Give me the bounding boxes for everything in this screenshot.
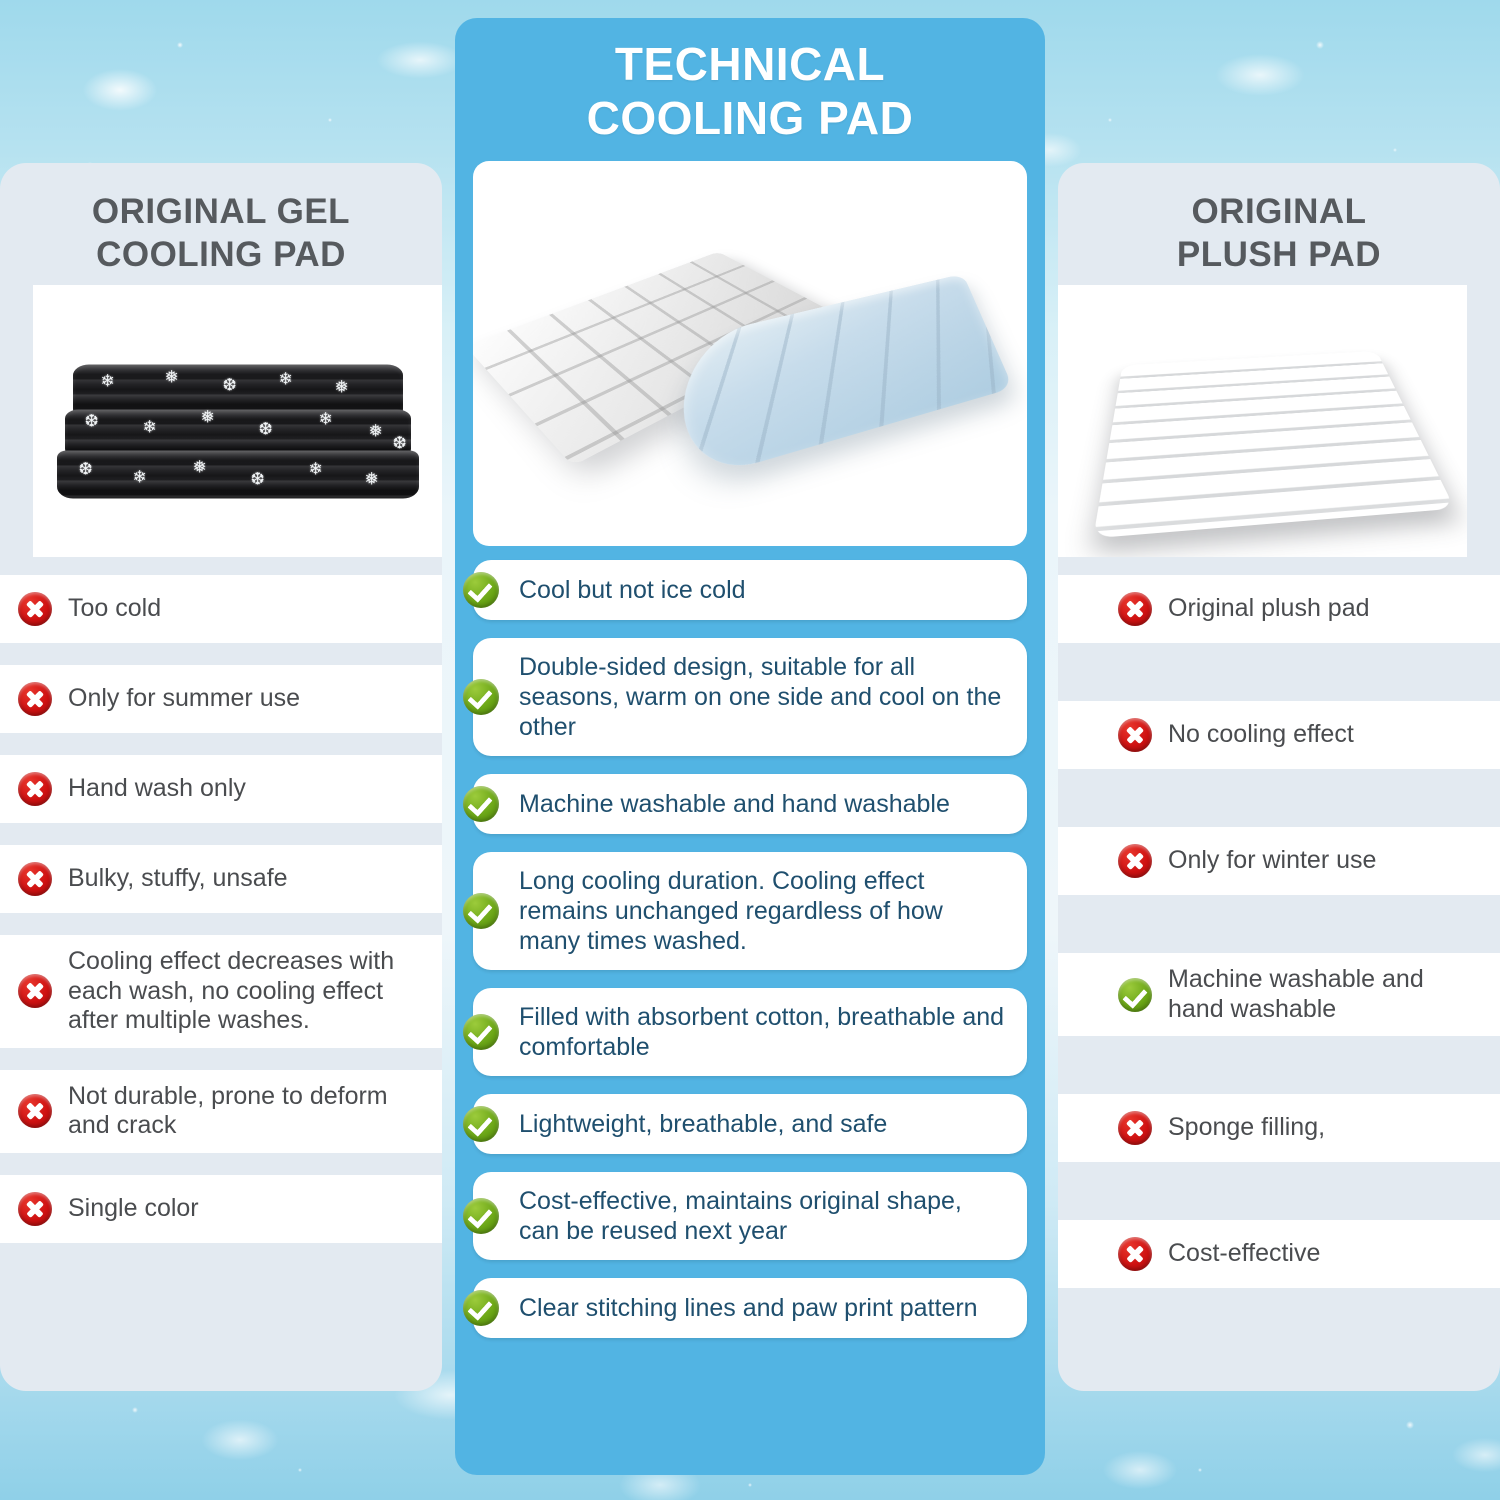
snowflake-icon: ❄ xyxy=(133,468,147,485)
left-panel-title-line2: COOLING PAD xyxy=(0,233,442,276)
check-icon xyxy=(463,786,499,822)
cross-icon xyxy=(18,682,52,716)
right-panel-title: ORIGINAL PLUSH PAD xyxy=(1058,163,1500,277)
snowflake-icon: ❄ xyxy=(309,460,323,477)
cross-icon xyxy=(1118,844,1152,878)
list-item-label: Not durable, prone to deform and crack xyxy=(68,1082,428,1141)
list-item: Original plush pad xyxy=(1058,575,1500,643)
list-item: Only for summer use xyxy=(0,665,442,733)
list-gap xyxy=(0,1153,442,1175)
list-gap xyxy=(0,643,442,665)
list-item-label: Filled with absorbent cotton, breathable… xyxy=(519,1002,1009,1062)
cross-icon xyxy=(18,1094,52,1128)
list-item: Cooling effect decreases with each wash,… xyxy=(0,935,442,1048)
check-icon xyxy=(463,679,499,715)
cross-icon xyxy=(1118,718,1152,752)
list-item: Double-sided design, suitable for all se… xyxy=(473,638,1027,756)
list-item: Not durable, prone to deform and crack xyxy=(0,1070,442,1153)
list-item-label: Lightweight, breathable, and safe xyxy=(519,1109,887,1139)
cross-icon xyxy=(1118,592,1152,626)
cross-icon xyxy=(18,974,52,1008)
snowflake-icon: ❅ xyxy=(365,470,379,487)
snowflake-icon: ❄ xyxy=(279,370,293,387)
list-item-label: Machine washable and hand washable xyxy=(1168,965,1486,1024)
cross-icon xyxy=(18,592,52,626)
center-product-photo xyxy=(473,161,1027,546)
snowflake-icon: ❆ xyxy=(223,376,237,393)
list-item: Sponge filling, xyxy=(1058,1094,1500,1162)
right-panel-title-line1: ORIGINAL xyxy=(1058,190,1500,233)
snowflake-icon: ❅ xyxy=(193,458,207,475)
center-feature-list: Cool but not ice coldDouble-sided design… xyxy=(473,560,1027,1338)
cross-icon xyxy=(1118,1237,1152,1271)
list-item-label: Sponge filling, xyxy=(1168,1113,1325,1143)
snowflake-icon: ❅ xyxy=(335,378,349,395)
list-item-label: Double-sided design, suitable for all se… xyxy=(519,652,1009,742)
list-gap xyxy=(1058,769,1500,827)
list-item-label: Cooling effect decreases with each wash,… xyxy=(68,947,428,1036)
list-item-label: Cost-effective, maintains original shape… xyxy=(519,1186,1009,1246)
list-item-label: Only for winter use xyxy=(1168,846,1376,876)
list-item-label: Only for summer use xyxy=(68,684,300,714)
list-item-label: Clear stitching lines and paw print patt… xyxy=(519,1293,978,1323)
center-panel-title-line2: COOLING PAD xyxy=(473,92,1027,146)
left-panel-title-line1: ORIGINAL GEL xyxy=(0,190,442,233)
list-item: Bulky, stuffy, unsafe xyxy=(0,845,442,913)
list-gap xyxy=(1058,895,1500,953)
list-item-label: Bulky, stuffy, unsafe xyxy=(68,864,288,894)
list-item: Hand wash only xyxy=(0,755,442,823)
right-product-photo xyxy=(1058,285,1467,557)
left-product-photo: ❄ ❅ ❆ ❄ ❅ ❆ ❄ ❅ ❆ ❄ ❅ ❆ ❄ ❅ ❆ ❄ ❅ ❆ xyxy=(33,285,442,557)
snowflake-icon: ❅ xyxy=(165,368,179,385)
check-icon xyxy=(463,893,499,929)
list-item-label: Long cooling duration. Cooling effect re… xyxy=(519,866,1009,956)
snowflake-icon: ❆ xyxy=(251,470,265,487)
list-item: Cost-effective, maintains original shape… xyxy=(473,1172,1027,1260)
list-gap xyxy=(0,913,442,935)
center-feature-panel: TECHNICAL COOLING PAD Cool but not ice c… xyxy=(455,18,1045,1475)
center-panel-title-line1: TECHNICAL xyxy=(473,38,1027,92)
list-item: Filled with absorbent cotton, breathable… xyxy=(473,988,1027,1076)
check-icon xyxy=(463,1198,499,1234)
list-gap xyxy=(0,823,442,845)
list-gap xyxy=(1058,643,1500,701)
list-item: Only for winter use xyxy=(1058,827,1500,895)
right-comparison-panel: ORIGINAL PLUSH PAD Original plush padNo … xyxy=(1058,163,1500,1391)
list-item: Cool but not ice cold xyxy=(473,560,1027,620)
snowflake-icon: ❄ xyxy=(101,372,115,389)
check-icon xyxy=(463,572,499,608)
snowflake-icon: ❅ xyxy=(369,422,383,439)
list-item: Too cold xyxy=(0,575,442,643)
list-gap xyxy=(1058,1162,1500,1220)
right-feature-list: Original plush padNo cooling effectOnly … xyxy=(1058,575,1500,1288)
list-item-label: Too cold xyxy=(68,594,161,624)
snowflake-icon: ❅ xyxy=(201,408,215,425)
right-panel-title-line2: PLUSH PAD xyxy=(1058,233,1500,276)
cross-icon xyxy=(18,862,52,896)
left-feature-list: Too coldOnly for summer useHand wash onl… xyxy=(0,575,442,1243)
center-panel-title: TECHNICAL COOLING PAD xyxy=(473,18,1027,146)
list-item: No cooling effect xyxy=(1058,701,1500,769)
list-item-label: Hand wash only xyxy=(68,774,246,804)
list-item: Lightweight, breathable, and safe xyxy=(473,1094,1027,1154)
check-icon xyxy=(463,1106,499,1142)
list-item: Machine washable and hand washable xyxy=(473,774,1027,834)
gel-pad-illustration: ❄ ❅ ❆ ❄ ❅ ❆ ❄ ❅ ❆ ❄ ❅ ❆ ❄ ❅ ❆ ❄ ❅ ❆ xyxy=(73,364,403,499)
snowflake-icon: ❆ xyxy=(259,420,273,437)
snowflake-icon: ❄ xyxy=(319,410,333,427)
cooling-pad-illustration xyxy=(490,203,1010,503)
list-item-label: Cool but not ice cold xyxy=(519,575,746,605)
cross-icon xyxy=(1118,1111,1152,1145)
list-item: Clear stitching lines and paw print patt… xyxy=(473,1278,1027,1338)
list-item: Single color xyxy=(0,1175,442,1243)
list-item-label: Single color xyxy=(68,1194,199,1224)
list-item-label: No cooling effect xyxy=(1168,720,1354,750)
check-icon xyxy=(463,1290,499,1326)
infographic-page: ORIGINAL GEL COOLING PAD ❄ ❅ ❆ ❄ ❅ ❆ ❄ ❅… xyxy=(0,0,1500,1500)
list-item: Cost-effective xyxy=(1058,1220,1500,1288)
list-item-label: Machine washable and hand washable xyxy=(519,789,950,819)
check-icon xyxy=(1118,978,1152,1012)
list-item: Long cooling duration. Cooling effect re… xyxy=(473,852,1027,970)
cross-icon xyxy=(18,1192,52,1226)
snowflake-icon: ❆ xyxy=(85,412,99,429)
plush-mat-illustration xyxy=(1093,351,1455,538)
cross-icon xyxy=(18,772,52,806)
left-panel-title: ORIGINAL GEL COOLING PAD xyxy=(0,163,442,277)
list-gap xyxy=(1058,1036,1500,1094)
list-item-label: Original plush pad xyxy=(1168,594,1370,624)
snowflake-icon: ❄ xyxy=(143,418,157,435)
list-item-label: Cost-effective xyxy=(1168,1239,1320,1269)
list-gap xyxy=(0,733,442,755)
list-gap xyxy=(0,1048,442,1070)
list-item: Machine washable and hand washable xyxy=(1058,953,1500,1036)
left-comparison-panel: ORIGINAL GEL COOLING PAD ❄ ❅ ❆ ❄ ❅ ❆ ❄ ❅… xyxy=(0,163,442,1391)
check-icon xyxy=(463,1014,499,1050)
snowflake-icon: ❆ xyxy=(79,460,93,477)
snowflake-icon: ❆ xyxy=(393,434,407,451)
